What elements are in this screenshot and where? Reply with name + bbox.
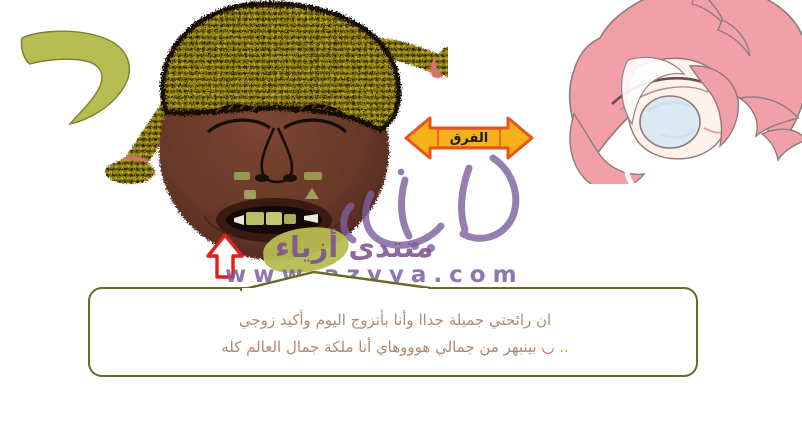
emoji-dots: .. — [559, 338, 569, 356]
bubble-line-1: ان رائحتي جميلة جداا وأنا بأتزوج اليوم و… — [239, 310, 551, 331]
image-canvas: الفرق منتدى أزياء www.azyya.com — [0, 0, 802, 436]
speech-bubble-tail — [240, 271, 430, 291]
bubble-line-2-text: بينبهر من جمالي هوووهاي أنا ملكة جمال ال… — [221, 338, 536, 356]
emoji-smile: ◡ — [541, 338, 554, 356]
watermark-subtitle: منتدى أزياء — [275, 230, 433, 264]
speech-bubble-text: ان رائحتي جميلة جداا وأنا بأتزوج اليوم و… — [90, 289, 700, 379]
speech-bubble: ان رائحتي جميلة جداا وأنا بأتزوج اليوم و… — [88, 287, 698, 377]
bubble-line-2: .. ◡ بينبهر من جمالي هوووهاي أنا ملكة جم… — [221, 337, 569, 358]
watermark: منتدى أزياء www.azyya.com — [255, 150, 615, 285]
